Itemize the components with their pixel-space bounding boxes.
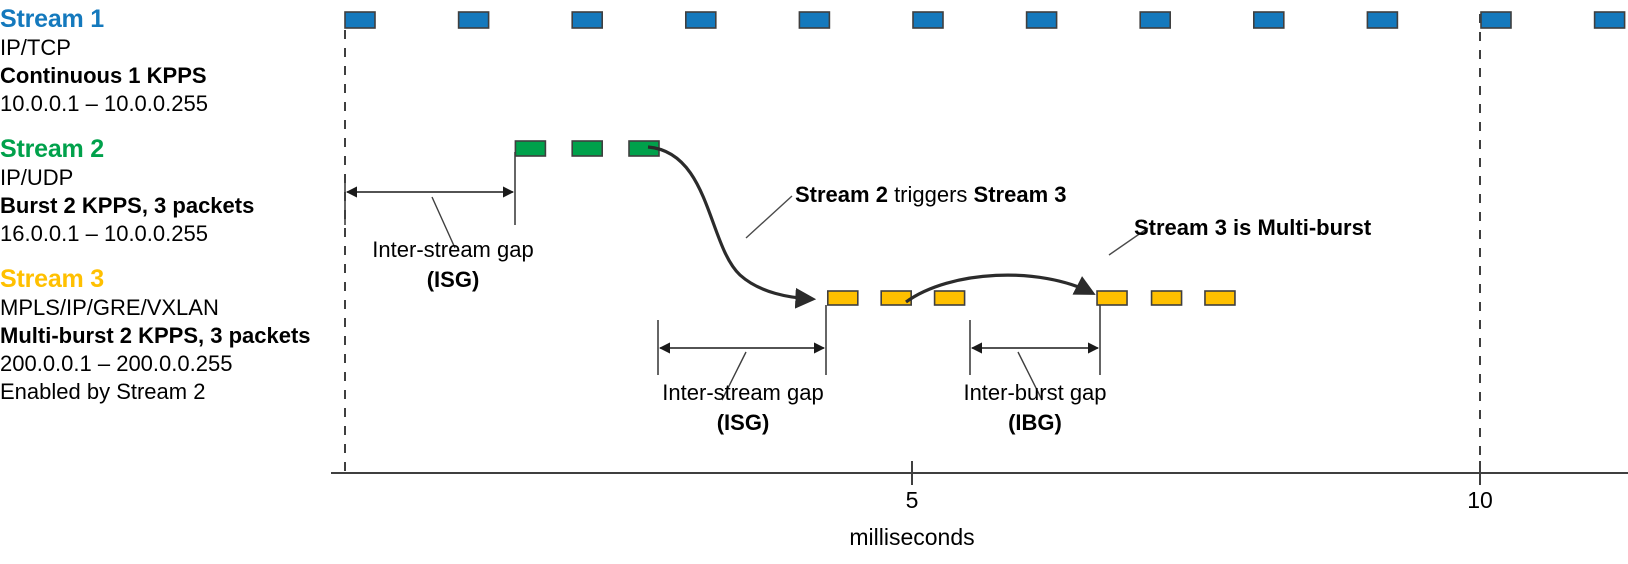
axis-title-milliseconds: milliseconds <box>762 524 1062 551</box>
isg-stream2-label-abbr: (ISG) <box>427 267 480 292</box>
packet-stream-3 <box>1152 291 1182 305</box>
isg-stream2-label-text: Inter-stream gap <box>372 237 533 262</box>
packet-stream-1 <box>1481 12 1511 28</box>
ibg-label-text: Inter-burst gap <box>963 380 1106 405</box>
packet-stream-1 <box>572 12 602 28</box>
packet-stream-1 <box>459 12 489 28</box>
packet-stream-3 <box>935 291 965 305</box>
ibg-label: Inter-burst gap (IBG) <box>860 378 1210 438</box>
trigger-text-part2: triggers <box>888 182 974 207</box>
isg-stream3-label-abbr: (ISG) <box>717 410 770 435</box>
isg-stream3-label-text: Inter-stream gap <box>662 380 823 405</box>
packet-stream-1 <box>1027 12 1057 28</box>
diagram-root: Stream 1 IP/TCP Continuous 1 KPPS 10.0.0… <box>0 0 1628 564</box>
isg-stream2-label: Inter-stream gap (ISG) <box>278 235 628 295</box>
packet-stream-1 <box>1140 12 1170 28</box>
packet-stream-1 <box>686 12 716 28</box>
packet-stream-1 <box>1254 12 1284 28</box>
packet-stream-3 <box>1205 291 1235 305</box>
trigger-leader-line <box>746 196 792 238</box>
packet-stream-1 <box>1595 12 1625 28</box>
trigger-text-part3: Stream 3 <box>974 182 1067 207</box>
packet-stream-3 <box>1097 291 1127 305</box>
ibg-label-abbr: (IBG) <box>1008 410 1062 435</box>
axis-tick-label-5: 5 <box>862 487 962 514</box>
packet-stream-2 <box>515 141 545 156</box>
packet-stream-1 <box>799 12 829 28</box>
packet-stream-2 <box>572 141 602 156</box>
packet-stream-1 <box>1367 12 1397 28</box>
packet-stream-1 <box>345 12 375 28</box>
annotation-stream3-multiburst: Stream 3 is Multi-burst <box>1134 215 1371 241</box>
timeline-canvas <box>0 0 1628 564</box>
trigger-text-part1: Stream 2 <box>795 182 888 207</box>
annotation-stream2-triggers-stream3: Stream 2 triggers Stream 3 <box>795 182 1067 208</box>
packet-stream-1 <box>913 12 943 28</box>
axis-tick-label-10: 10 <box>1430 487 1530 514</box>
stream2-triggers-stream3-arrow <box>648 147 812 299</box>
packet-stream-3 <box>828 291 858 305</box>
